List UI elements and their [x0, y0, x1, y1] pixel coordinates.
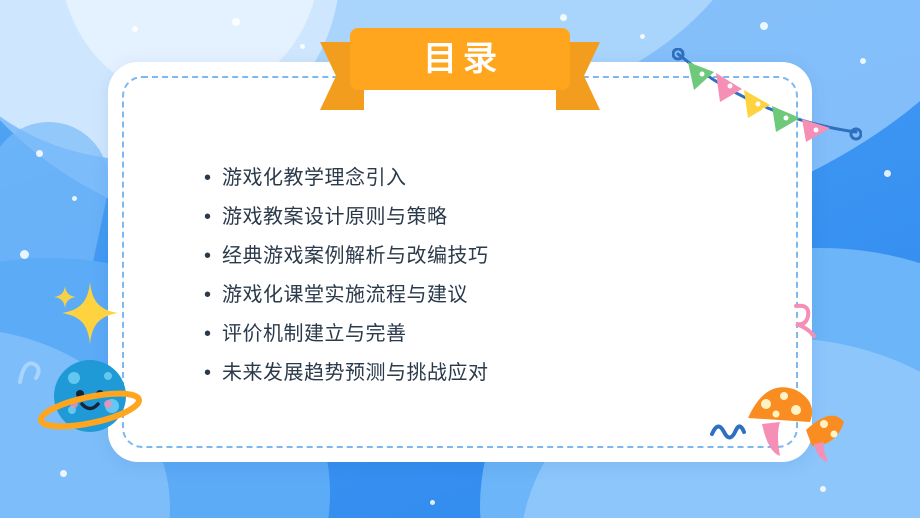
bullet-icon: • [204, 285, 222, 305]
decorative-dot [820, 486, 826, 492]
decorative-dot [884, 170, 891, 177]
decorative-dot [36, 150, 43, 157]
page-title: 目录 [417, 42, 503, 76]
mushroom-icon [740, 360, 850, 470]
decorative-dot [300, 44, 305, 49]
list-item-label: 游戏化课堂实施流程与建议 [222, 283, 468, 307]
decorative-dot [72, 196, 77, 201]
list-item[interactable]: • 经典游戏案例解析与改编技巧 [204, 244, 752, 268]
squiggle-icon [708, 418, 748, 448]
list-item-label: 经典游戏案例解析与改编技巧 [222, 244, 489, 268]
list-item[interactable]: • 评价机制建立与完善 [204, 322, 752, 346]
decorative-dot [232, 18, 240, 26]
decorative-dot [640, 34, 645, 39]
ribbon-body: 目录 [350, 28, 570, 90]
list-item[interactable]: • 游戏化教学理念引入 [204, 166, 752, 190]
table-of-contents: • 游戏化教学理念引入 • 游戏教案设计原则与策略 • 经典游戏案例解析与改编技… [204, 166, 752, 400]
squiggle-icon [14, 354, 48, 388]
decorative-dot [760, 22, 768, 30]
decorative-dot [132, 26, 138, 32]
list-item[interactable]: • 未来发展趋势预测与挑战应对 [204, 361, 752, 385]
decorative-dot [560, 14, 567, 21]
list-item[interactable]: • 游戏教案设计原则与策略 [204, 205, 752, 229]
bullet-icon: • [204, 168, 222, 188]
sparkle-star-icon [52, 278, 122, 348]
title-ribbon: 目录 [350, 28, 570, 90]
bullet-icon: • [204, 363, 222, 383]
bullet-icon: • [204, 207, 222, 227]
bunting-flags-icon [672, 48, 862, 158]
squiggle-icon [788, 300, 828, 340]
bullet-icon: • [204, 324, 222, 344]
list-item-label: 评价机制建立与完善 [222, 322, 407, 346]
list-item-label: 游戏教案设计原则与策略 [222, 205, 448, 229]
decorative-dot [430, 500, 435, 505]
bullet-icon: • [204, 246, 222, 266]
list-item-label: 游戏化教学理念引入 [222, 166, 407, 190]
list-item[interactable]: • 游戏化课堂实施流程与建议 [204, 283, 752, 307]
list-item-label: 未来发展趋势预测与挑战应对 [222, 361, 489, 385]
decorative-dot [60, 470, 67, 477]
slide-canvas: • 游戏化教学理念引入 • 游戏教案设计原则与策略 • 经典游戏案例解析与改编技… [0, 0, 920, 518]
planet-icon [38, 348, 146, 456]
decorative-dot [20, 250, 29, 259]
